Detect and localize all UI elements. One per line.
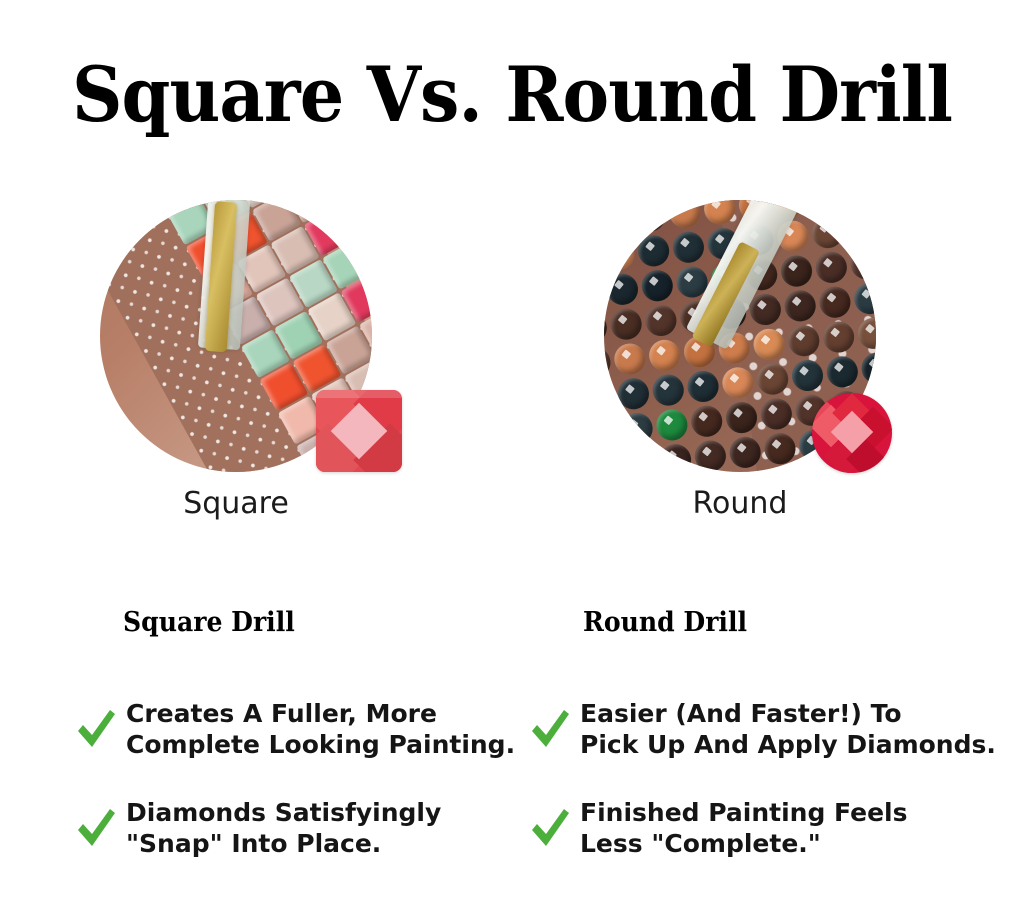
- round-drill-bead: [783, 289, 817, 323]
- round-drill-bead: [671, 230, 705, 264]
- square-photo-caption: Square: [100, 486, 372, 521]
- list-item-label: Finished Painting Feels Less "Complete.": [580, 797, 907, 859]
- round-drill-bead: [703, 200, 737, 226]
- round-drill-bead: [613, 342, 647, 376]
- round-drill-bead: [721, 366, 755, 400]
- list-item: Diamonds Satisfyingly "Snap" Into Place.: [74, 797, 441, 859]
- round-drill-bead: [825, 355, 859, 389]
- list-item: Easier (And Faster!) To Pick Up And Appl…: [528, 698, 996, 760]
- page-title: Square Vs. Round Drill: [41, 52, 983, 138]
- round-drill-bead: [686, 369, 720, 403]
- round-drill-bead: [604, 415, 619, 449]
- list-item: Creates A Fuller, More Complete Looking …: [74, 698, 515, 760]
- check-icon: [74, 705, 118, 753]
- infographic-page: Square Vs. Round Drill Square: [0, 0, 1024, 923]
- round-drill-bead: [659, 443, 693, 472]
- round-drill-bead: [604, 238, 636, 272]
- check-icon: [528, 705, 572, 753]
- round-drill-bead: [633, 200, 667, 233]
- round-drill-bead: [756, 362, 790, 396]
- round-drill-bead: [690, 404, 724, 438]
- round-drill-bead: [763, 432, 797, 466]
- round-drill-bead: [604, 203, 632, 237]
- square-drill-heading: Square Drill: [123, 607, 295, 638]
- round-photo-caption: Round: [604, 486, 876, 521]
- square-photo-block: [100, 200, 372, 472]
- round-drill-bead: [620, 412, 654, 446]
- round-drill-bead: [604, 346, 612, 380]
- round-drill-bead: [668, 200, 702, 229]
- round-drill-bead: [604, 311, 608, 345]
- check-icon: [74, 804, 118, 852]
- round-drill-bead: [853, 282, 876, 316]
- list-item: Finished Painting Feels Less "Complete.": [528, 797, 907, 859]
- round-gem-icon: [812, 393, 892, 473]
- round-drill-bead: [725, 401, 759, 435]
- round-drill-bead: [693, 439, 727, 472]
- round-drill-bead: [624, 446, 658, 472]
- round-drill-heading: Round Drill: [583, 607, 747, 638]
- round-drill-bead: [849, 247, 876, 281]
- gem-highlight: [316, 390, 402, 398]
- round-drill-bead: [637, 234, 671, 268]
- round-drill-bead: [822, 320, 856, 354]
- round-drill-bead: [728, 435, 762, 469]
- round-drill-bead: [818, 285, 852, 319]
- round-drill-bead: [860, 351, 876, 385]
- pen-wax: [205, 201, 237, 352]
- round-drill-bead: [807, 200, 841, 215]
- round-drill-bead: [842, 200, 876, 211]
- round-drill-bead: [767, 467, 801, 472]
- round-drill-bead: [609, 307, 643, 341]
- check-icon: [528, 804, 572, 852]
- list-item-label: Creates A Fuller, More Complete Looking …: [126, 698, 515, 760]
- round-drill-bead: [651, 373, 685, 407]
- list-item-label: Diamonds Satisfyingly "Snap" Into Place.: [126, 797, 441, 859]
- list-item-label: Easier (And Faster!) To Pick Up And Appl…: [580, 698, 996, 760]
- round-drill-bead: [644, 303, 678, 337]
- round-drill-bead: [779, 254, 813, 288]
- round-drill-bead: [604, 450, 623, 472]
- round-photo-block: [604, 200, 876, 472]
- round-drill-bead: [748, 293, 782, 327]
- round-drill-bead: [787, 324, 821, 358]
- round-drill-bead: [640, 269, 674, 303]
- round-drill-bead: [732, 470, 766, 472]
- round-drill-bead: [759, 397, 793, 431]
- round-drill-bead: [811, 216, 845, 250]
- round-drill-bead: [790, 358, 824, 392]
- round-drill-bead: [814, 250, 848, 284]
- round-drill-bead: [655, 408, 689, 442]
- square-gem-icon: [316, 390, 402, 472]
- round-drill-bead: [648, 338, 682, 372]
- round-drill-bead: [604, 380, 616, 414]
- round-drill-bead: [752, 327, 786, 361]
- round-drill-bead: [845, 212, 876, 246]
- round-drill-bead: [605, 272, 639, 306]
- round-drill-bead: [604, 276, 605, 310]
- round-drill-bead: [616, 377, 650, 411]
- round-drill-bead: [604, 200, 629, 202]
- round-drill-bead: [856, 316, 876, 350]
